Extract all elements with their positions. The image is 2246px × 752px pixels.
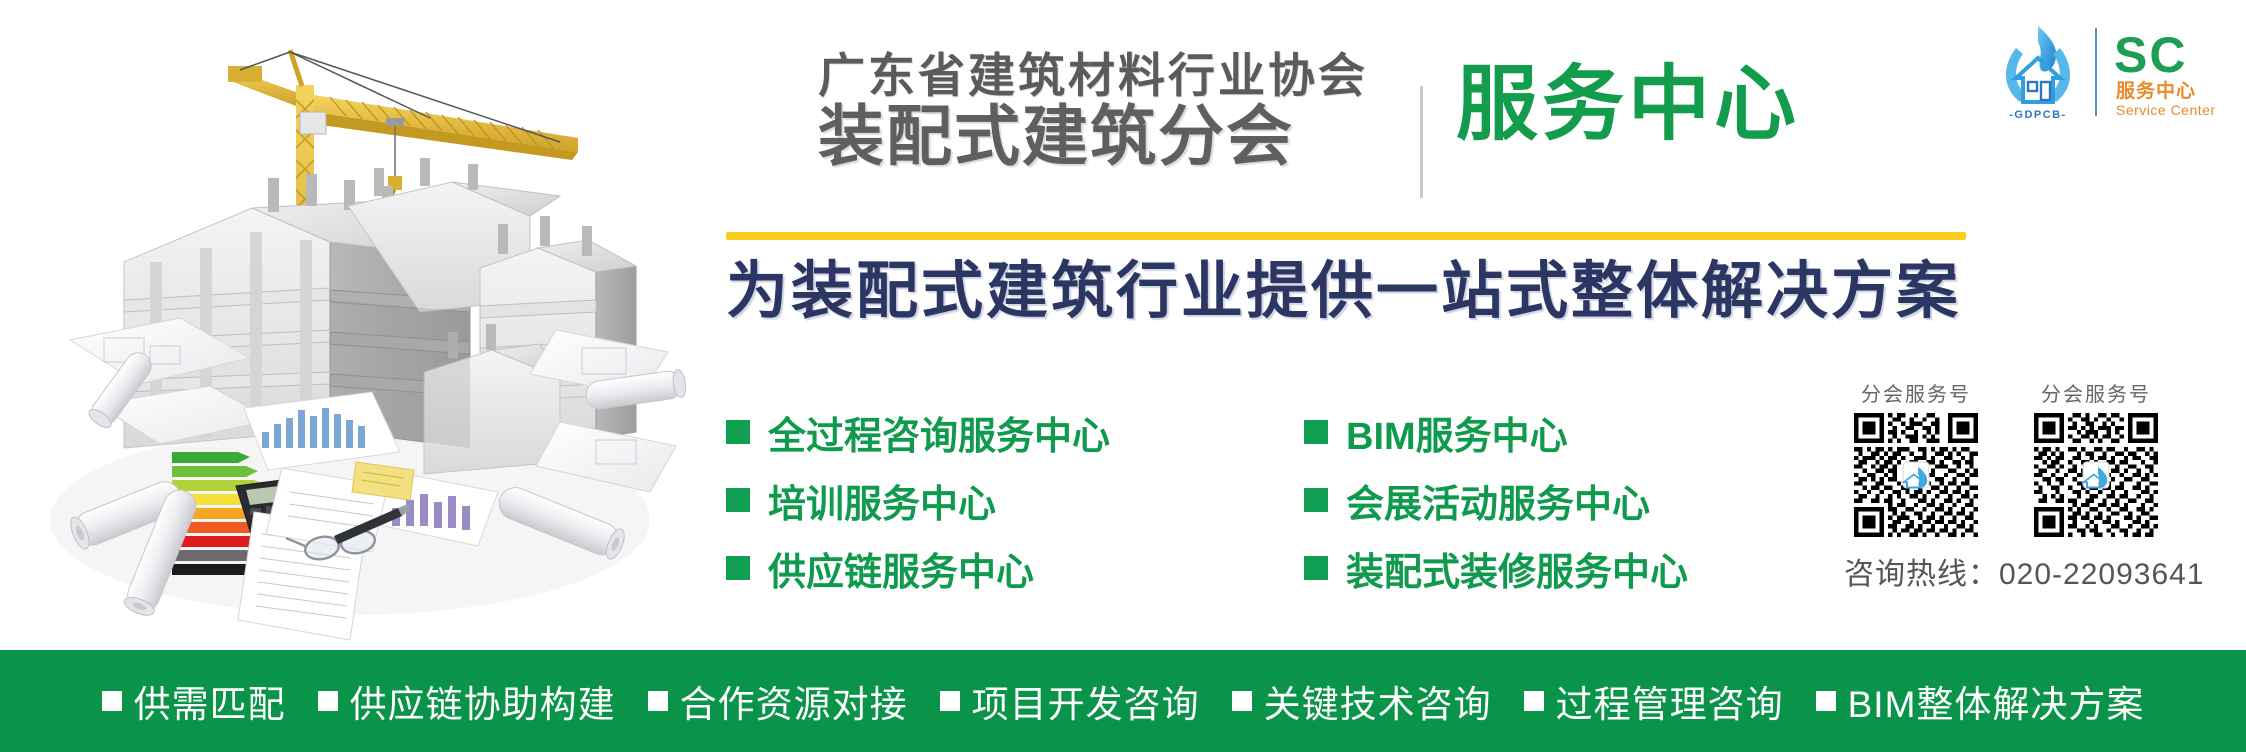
square-bullet-icon [940, 691, 960, 711]
svg-text:服务中心: 服务中心 [2116, 79, 2196, 102]
square-bullet-icon [1304, 488, 1328, 512]
footer-item[interactable]: 合作资源对接 [648, 674, 908, 728]
qr-code-icon[interactable] [1854, 413, 1978, 537]
association-name-line2: 装配式建筑分会 [818, 102, 1418, 171]
list-item[interactable]: 供应链服务中心 [726, 534, 1110, 602]
qr-label: 分会服务号 [2018, 378, 2174, 407]
square-bullet-icon [1816, 691, 1836, 711]
list-item[interactable]: 全过程咨询服务中心 [726, 398, 1110, 466]
promotional-banner: 广东省建筑材料行业协会 装配式建筑分会 服务中心 为装配式建筑行业提供一站式整体… [0, 0, 2246, 752]
brand-logo[interactable]: -GDPCB- SC 服务中心 Service Center [1986, 18, 2232, 126]
service-column-left: 全过程咨询服务中心 培训服务中心 供应链服务中心 [726, 398, 1110, 602]
footer-item[interactable]: 供需匹配 [102, 674, 286, 728]
footer-item[interactable]: BIM整体解决方案 [1816, 674, 2145, 728]
gdpcb-flame-house-icon: -GDPCB- [2006, 26, 2070, 121]
list-item-label: 供应链服务中心 [768, 541, 1034, 596]
qr-code-icon[interactable] [2034, 413, 2158, 537]
service-center-heading: 服务中心 [1456, 64, 1800, 146]
hotline-text: 咨询热线：020-22093641 [1838, 549, 2228, 593]
footer-item-label: 关键技术咨询 [1264, 674, 1492, 728]
qr-cell: 分会服务号 [1838, 378, 1994, 537]
qr-label: 分会服务号 [1838, 378, 1994, 407]
construction-site-3d-illustration [0, 0, 700, 645]
header-title-block: 广东省建筑材料行业协会 装配式建筑分会 服务中心 [726, 44, 1976, 194]
square-bullet-icon [1304, 420, 1328, 444]
footer-item[interactable]: 关键技术咨询 [1232, 674, 1492, 728]
list-item-label: 装配式装修服务中心 [1346, 541, 1688, 596]
square-bullet-icon [726, 488, 750, 512]
square-bullet-icon [726, 556, 750, 580]
square-bullet-icon [726, 420, 750, 444]
footer-item-label: 供需匹配 [134, 674, 286, 728]
footer-item[interactable]: 过程管理咨询 [1524, 674, 1784, 728]
square-bullet-icon [1232, 691, 1252, 711]
footer-item-label: 项目开发咨询 [972, 674, 1200, 728]
sc-mark: SC 服务中心 Service Center [2114, 27, 2216, 118]
svg-text:SC: SC [2114, 27, 2187, 83]
list-item[interactable]: BIM服务中心 [1304, 398, 1688, 466]
list-item[interactable]: 装配式装修服务中心 [1304, 534, 1688, 602]
list-item-label: 培训服务中心 [768, 473, 996, 528]
list-item[interactable]: 会展活动服务中心 [1304, 466, 1688, 534]
page-tagline: 为装配式建筑行业提供一站式整体解决方案 [726, 258, 1961, 326]
list-item-label: 会展活动服务中心 [1346, 473, 1650, 528]
footer-item-label: 供应链协助构建 [350, 674, 616, 728]
footer-item[interactable]: 供应链协助构建 [318, 674, 616, 728]
association-name-line1: 广东省建筑材料行业协会 [818, 52, 1418, 100]
svg-text:Service Center: Service Center [2116, 102, 2216, 118]
square-bullet-icon [1304, 556, 1328, 580]
square-bullet-icon [1524, 691, 1544, 711]
association-name: 广东省建筑材料行业协会 装配式建筑分会 [818, 52, 1418, 171]
footer-item[interactable]: 项目开发咨询 [940, 674, 1200, 728]
list-item-label: 全过程咨询服务中心 [768, 405, 1110, 460]
qr-contact-block: 分会服务号 [1838, 378, 2228, 593]
footer-item-label: BIM整体解决方案 [1848, 674, 2145, 728]
footer-item-label: 过程管理咨询 [1556, 674, 1784, 728]
list-item-label: BIM服务中心 [1346, 405, 1568, 460]
footer-item-label: 合作资源对接 [680, 674, 908, 728]
list-item[interactable]: 培训服务中心 [726, 466, 1110, 534]
svg-text:-GDPCB-: -GDPCB- [2009, 109, 2067, 121]
square-bullet-icon [648, 691, 668, 711]
square-bullet-icon [102, 691, 122, 711]
gold-divider-rule [726, 232, 1966, 240]
service-column-right: BIM服务中心 会展活动服务中心 装配式装修服务中心 [1304, 398, 1688, 602]
qr-cell: 分会服务号 [2018, 378, 2174, 537]
footer-service-bar: 供需匹配 供应链协助构建 合作资源对接 项目开发咨询 关键技术咨询 过程管理咨询 [0, 650, 2246, 752]
vertical-divider-icon [1420, 86, 1423, 198]
square-bullet-icon [318, 691, 338, 711]
